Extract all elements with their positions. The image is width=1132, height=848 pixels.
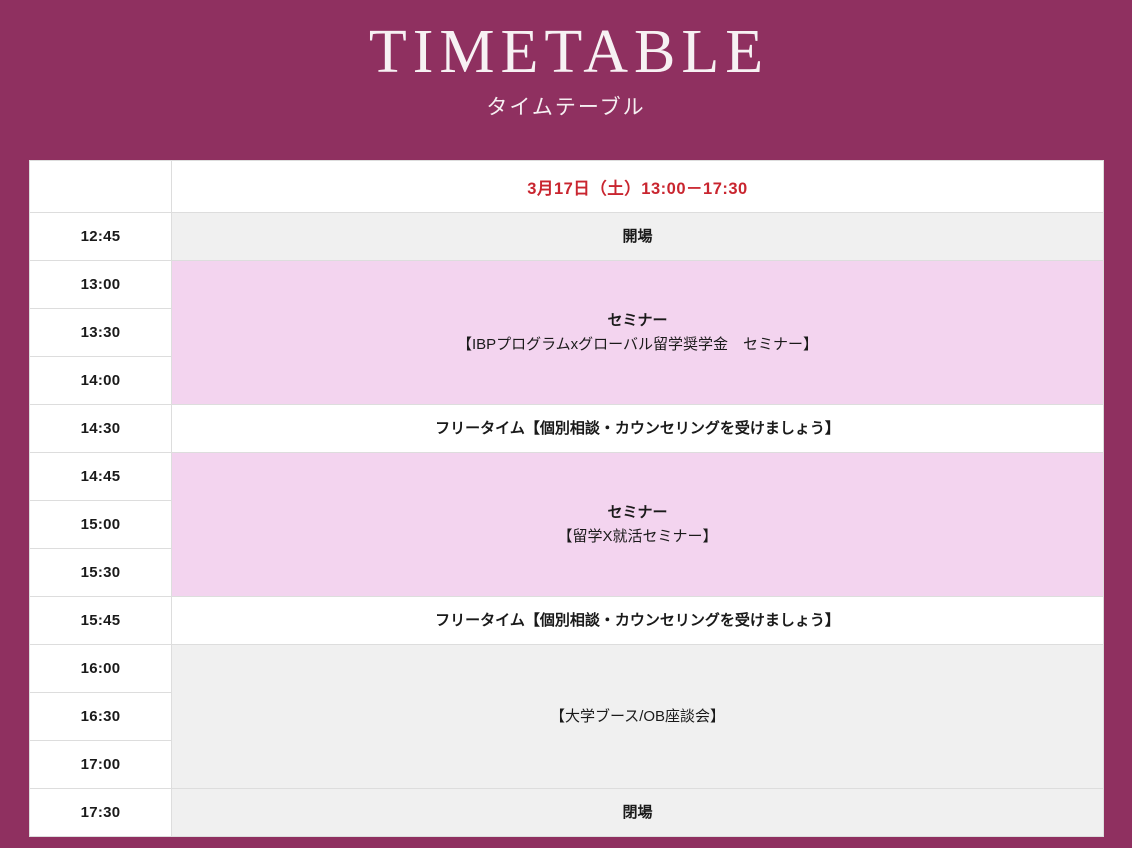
event-title: 開場 [172, 225, 1103, 248]
time-label: 15:45 [30, 597, 172, 645]
timetable: 3月17日（土）13:00－17:30 12:45開場13:00セミナー【IBP… [29, 160, 1104, 837]
time-label: 16:30 [30, 693, 172, 741]
timetable-row: 17:30閉場 [30, 789, 1104, 837]
timetable-container: 3月17日（土）13:00－17:30 12:45開場13:00セミナー【IBP… [29, 160, 1103, 837]
event-subtitle: 【留学X就活セミナー】 [172, 525, 1103, 548]
event-title: フリータイム【個別相談・カウンセリングを受けましょう】 [172, 417, 1103, 440]
timetable-header-row: 3月17日（土）13:00－17:30 [30, 161, 1104, 213]
date-header-cell: 3月17日（土）13:00－17:30 [172, 161, 1104, 213]
event-title: セミナー [172, 501, 1103, 524]
event-title: フリータイム【個別相談・カウンセリングを受けましょう】 [172, 609, 1103, 632]
time-label: 17:30 [30, 789, 172, 837]
timetable-row: 16:00【大学ブース/OB座談会】 [30, 645, 1104, 693]
page-header: TIMETABLE タイムテーブル [0, 0, 1132, 160]
time-label: 17:00 [30, 741, 172, 789]
event-cell: 【大学ブース/OB座談会】 [172, 645, 1104, 789]
timetable-row: 14:30フリータイム【個別相談・カウンセリングを受けましょう】 [30, 405, 1104, 453]
time-label: 15:00 [30, 501, 172, 549]
time-label: 12:45 [30, 213, 172, 261]
time-label: 14:45 [30, 453, 172, 501]
page-subtitle: タイムテーブル [486, 91, 645, 121]
time-label: 16:00 [30, 645, 172, 693]
event-cell: フリータイム【個別相談・カウンセリングを受けましょう】 [172, 597, 1104, 645]
event-subtitle: 【IBPプログラムxグローバル留学奨学金 セミナー】 [172, 333, 1103, 356]
time-label: 14:30 [30, 405, 172, 453]
event-cell: セミナー【IBPプログラムxグローバル留学奨学金 セミナー】 [172, 261, 1104, 405]
event-cell: フリータイム【個別相談・カウンセリングを受けましょう】 [172, 405, 1104, 453]
event-cell: 開場 [172, 213, 1104, 261]
time-label: 13:30 [30, 309, 172, 357]
event-title: セミナー [172, 309, 1103, 332]
time-label: 14:00 [30, 357, 172, 405]
header-blank-cell [30, 161, 172, 213]
event-title: 閉場 [172, 801, 1103, 824]
event-title: 【大学ブース/OB座談会】 [172, 705, 1103, 728]
time-label: 13:00 [30, 261, 172, 309]
timetable-row: 14:45セミナー【留学X就活セミナー】 [30, 453, 1104, 501]
event-cell: セミナー【留学X就活セミナー】 [172, 453, 1104, 597]
page-title: TIMETABLE [363, 20, 769, 85]
timetable-row: 13:00セミナー【IBPプログラムxグローバル留学奨学金 セミナー】 [30, 261, 1104, 309]
timetable-row: 12:45開場 [30, 213, 1104, 261]
timetable-row: 15:45フリータイム【個別相談・カウンセリングを受けましょう】 [30, 597, 1104, 645]
time-label: 15:30 [30, 549, 172, 597]
event-cell: 閉場 [172, 789, 1104, 837]
